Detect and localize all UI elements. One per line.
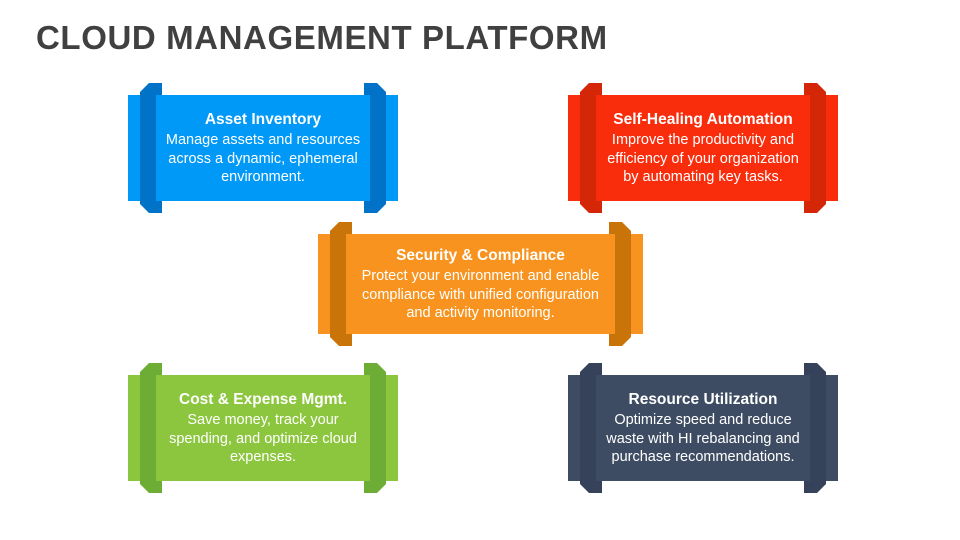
feature-card-asset-inventory[interactable]: Asset Inventory Manage assets and resour…: [128, 83, 398, 213]
card-title: Security & Compliance: [396, 245, 565, 266]
card-description: Optimize speed and reduce waste with HI …: [602, 411, 804, 467]
card-description: Save money, track your spending, and opt…: [162, 411, 364, 467]
card-title: Resource Utilization: [629, 389, 778, 410]
ribbon-body: Resource Utilization Optimize speed and …: [596, 375, 810, 481]
card-title: Self-Healing Automation: [613, 109, 792, 130]
ribbon-body: Self-Healing Automation Improve the prod…: [596, 95, 810, 201]
ribbon-body: Security & Compliance Protect your envir…: [346, 234, 615, 334]
ribbon-body: Asset Inventory Manage assets and resour…: [156, 95, 370, 201]
feature-card-self-healing-automation[interactable]: Self-Healing Automation Improve the prod…: [568, 83, 838, 213]
card-title: Asset Inventory: [205, 109, 321, 130]
card-description: Improve the productivity and efficiency …: [602, 131, 804, 187]
page-title: CLOUD MANAGEMENT PLATFORM: [36, 18, 608, 58]
feature-card-cost-expense-mgmt[interactable]: Cost & Expense Mgmt. Save money, track y…: [128, 363, 398, 493]
slide-canvas: CLOUD MANAGEMENT PLATFORM Asset Inventor…: [0, 0, 960, 540]
ribbon-body: Cost & Expense Mgmt. Save money, track y…: [156, 375, 370, 481]
feature-card-security-compliance[interactable]: Security & Compliance Protect your envir…: [318, 222, 643, 346]
card-title: Cost & Expense Mgmt.: [179, 389, 347, 410]
card-description: Manage assets and resources across a dyn…: [162, 131, 364, 187]
feature-card-resource-utilization[interactable]: Resource Utilization Optimize speed and …: [568, 363, 838, 493]
card-description: Protect your environment and enable comp…: [352, 267, 609, 323]
